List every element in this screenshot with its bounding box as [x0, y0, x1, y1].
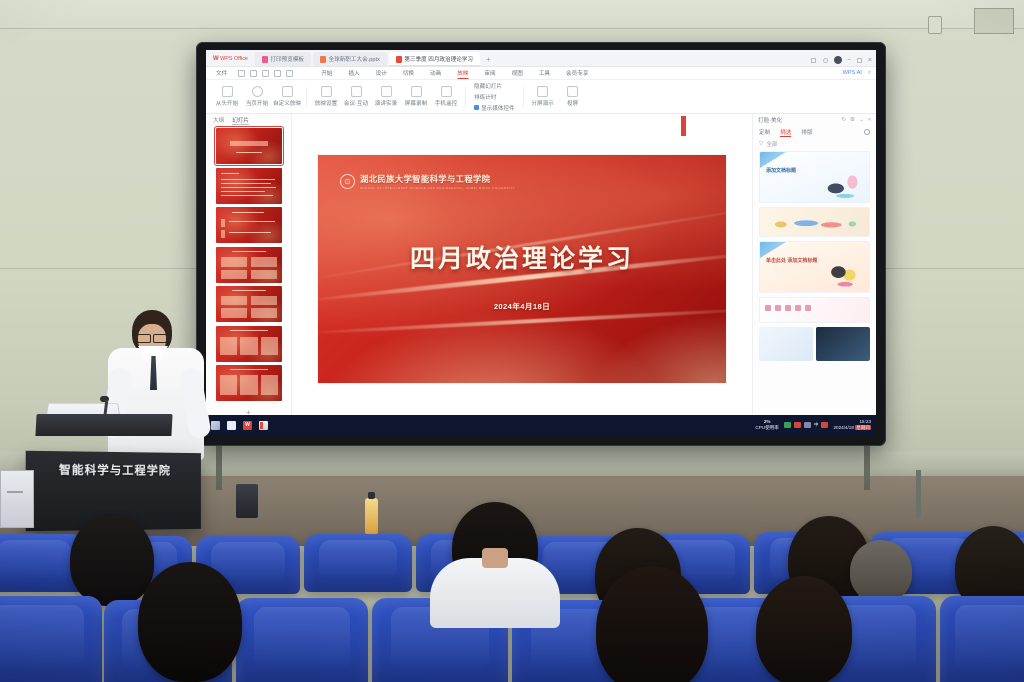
network-icon[interactable]	[784, 422, 791, 428]
template-illustration	[816, 327, 870, 361]
design-sidebar: 打脸·美化 ↻ ⚙ ⌄ × 定制 挑选 排版	[752, 114, 876, 424]
cloud-icon[interactable]	[822, 57, 829, 64]
tab-插入[interactable]: 插入	[340, 69, 367, 77]
taskbar-clock[interactable]: 15:23 2024/4/18 星期四	[833, 419, 871, 431]
start-icon[interactable]	[211, 421, 220, 430]
template-illustration	[815, 159, 867, 201]
audience-head	[138, 562, 242, 682]
doc-red-icon	[396, 56, 402, 63]
tab-视图[interactable]: 视图	[504, 69, 531, 77]
slide-thumbnail[interactable]	[216, 207, 282, 243]
document-icon[interactable]	[259, 421, 268, 430]
ribbon-label: 投屏	[567, 99, 578, 107]
slide-thumbnail[interactable]	[216, 128, 282, 164]
wps-brand: W WPS Office	[210, 51, 253, 66]
slide-title: 四月政治理论学习	[318, 239, 726, 275]
filter-label: 全部	[766, 140, 777, 148]
collapse-icon[interactable]: ⌄	[859, 117, 864, 123]
ribbon-record[interactable]: 演讲实录	[371, 86, 401, 107]
tab-会员专享[interactable]: 会员专享	[558, 69, 596, 77]
ribbon-label: 手机遥控	[435, 99, 457, 107]
share-icon[interactable]	[810, 57, 817, 64]
sidebar-tabs: 定制 挑选 排版	[753, 126, 876, 138]
template-icon-row	[765, 305, 811, 311]
slide-logo: ⊙ 湖北民族大学智能科学与工程学院 SCHOOL OF INTELLIGENT …	[340, 173, 515, 190]
volume-icon[interactable]	[794, 422, 801, 428]
audience-head	[70, 514, 154, 606]
seat	[236, 598, 368, 682]
wps-ribbon: 从头开始 当页开始 自定义放映 放映设置 会议·互动	[206, 80, 876, 114]
glasses-icon	[137, 334, 167, 341]
settings-icon[interactable]: ⚙	[850, 117, 855, 123]
document-tab-1[interactable]: 打印预览模板	[255, 52, 311, 66]
ribbon-cast[interactable]: 投屏	[558, 86, 588, 107]
sidebar-filter[interactable]: ▽ 全部	[753, 138, 876, 149]
slide-org-name: 湖北民族大学智能科学与工程学院	[360, 173, 515, 185]
document-tab-label: 全球新职工大会.pptx	[329, 55, 380, 63]
slide-thumbnail[interactable]	[216, 247, 282, 283]
show-settings-icon	[321, 86, 332, 97]
ribbon-hide-slide[interactable]: 隐藏幻灯片	[474, 82, 515, 90]
ribbon-label: 自定义放映	[273, 99, 301, 107]
template-card[interactable]: 单击此处 添加文档标题	[759, 241, 870, 293]
ribbon-label: 隐藏幻灯片	[474, 82, 502, 90]
tab-动画[interactable]: 动画	[422, 69, 449, 77]
slide-org-name-en: SCHOOL OF INTELLIGENT SCIENCE AND ENGINE…	[360, 186, 515, 190]
tripod-stand	[916, 470, 921, 518]
ribbon-split-present[interactable]: 分屏演示	[528, 86, 558, 107]
ime-icon[interactable]: 中	[814, 422, 819, 428]
template-card-caption: 单击此处 添加文档标题	[766, 258, 817, 266]
ribbon-play-current[interactable]: 当页开始	[242, 86, 272, 107]
thumbnail-panel-tabs: 大纲 幻灯片	[206, 114, 291, 126]
template-illustration	[762, 210, 867, 234]
ribbon-screen-record[interactable]: 屏幕录制	[401, 86, 431, 107]
ribbon-label: 放映设置	[315, 99, 337, 107]
tab-设计[interactable]: 设计	[368, 69, 395, 77]
document-tab-label: 第三季度 四月政治理论学习	[404, 55, 473, 63]
play-current-icon	[252, 86, 263, 97]
file-menu-button[interactable]: 文件	[211, 69, 232, 77]
minimize-icon[interactable]: −	[847, 57, 851, 64]
save-icon[interactable]	[238, 70, 245, 77]
quick-access-toolbar	[232, 70, 299, 77]
close-icon[interactable]: ×	[868, 117, 871, 123]
ribbon-rehearse[interactable]: 排练计时	[474, 93, 515, 101]
ribbon-media-checkbox[interactable]: 显示媒体控件	[474, 104, 515, 112]
wps-logo-icon: W	[213, 56, 218, 62]
template-card[interactable]	[759, 297, 870, 323]
phone-remote-icon	[441, 86, 452, 97]
university-logo-icon: ⊙	[340, 174, 355, 189]
audience-head	[596, 566, 708, 682]
ribbon-phone-remote[interactable]: 手机遥控	[431, 86, 461, 107]
seat	[304, 534, 412, 592]
current-slide[interactable]: ⊙ 湖北民族大学智能科学与工程学院 SCHOOL OF INTELLIGENT …	[318, 155, 726, 383]
clock-time: 15:23	[860, 419, 872, 424]
audience-head	[850, 540, 912, 602]
template-card-caption: 添加文档标题	[766, 168, 796, 176]
ceiling-vent	[974, 8, 1014, 34]
filter-icon: ▽	[759, 141, 763, 147]
screen-record-icon	[411, 86, 422, 97]
print-icon[interactable]	[250, 70, 257, 77]
slide-selection-marker	[681, 116, 686, 136]
speaker-box	[236, 484, 258, 518]
seat	[0, 596, 102, 682]
redo-icon[interactable]	[274, 70, 281, 77]
play-from-start-icon	[222, 86, 233, 97]
ribbon-label: 会议·互动	[344, 99, 368, 107]
undo-icon[interactable]	[262, 70, 269, 77]
ribbon-label: 从头开始	[216, 99, 238, 107]
template-card[interactable]: 添加文档标题	[759, 151, 870, 203]
sidebar-tab-定制[interactable]: 定制	[759, 128, 770, 136]
ribbon-meeting[interactable]: 会议·互动	[341, 86, 371, 107]
wall-socket	[928, 16, 942, 34]
tab-slides[interactable]: 幻灯片	[232, 116, 249, 125]
slide-thumbnail[interactable]	[216, 168, 282, 204]
wall-upper-band	[0, 0, 1024, 28]
tab-开始[interactable]: 开始	[313, 69, 340, 77]
display-screen: W WPS Office 打印预览模板 全球新职工大会.pptx 第三季度 四月…	[206, 50, 876, 435]
podium-top-surface	[35, 414, 172, 436]
wps-tab-bar: W WPS Office 打印预览模板 全球新职工大会.pptx 第三季度 四月…	[206, 50, 876, 67]
slide-thumbnail[interactable]	[216, 286, 282, 322]
sidebar-title: 打脸·美化	[758, 116, 782, 124]
template-card-list[interactable]: 添加文档标题 单击此处 添加文档标题	[753, 149, 876, 414]
document-tab-label: 打印预览模板	[270, 55, 304, 63]
slide-thumbnail[interactable]	[216, 365, 282, 401]
search-icon[interactable]: ⌕	[868, 70, 871, 77]
audience-neck	[482, 548, 508, 568]
system-tray: 中	[784, 422, 829, 428]
custom-show-icon	[282, 86, 293, 97]
template-illustration	[815, 249, 867, 291]
checkbox-icon[interactable]	[474, 105, 479, 110]
document-tab-3-active[interactable]: 第三季度 四月政治理论学习	[389, 52, 480, 66]
new-tab-button[interactable]: +	[482, 55, 495, 66]
sidebar-tab-挑选[interactable]: 挑选	[780, 128, 791, 137]
wps-office-window: W WPS Office 打印预览模板 全球新职工大会.pptx 第三季度 四月…	[206, 50, 876, 435]
meeting-icon	[351, 86, 362, 97]
wps-brand-label: WPS Office	[220, 56, 248, 62]
ribbon-label: 演讲实录	[375, 99, 397, 107]
ribbon-label: 排练计时	[474, 93, 496, 101]
ribbon-divider	[465, 87, 466, 107]
podium-sign: 智能科学与工程学院	[26, 461, 201, 478]
menu-right-area: WPS AI ⌕	[843, 70, 871, 77]
ribbon-custom-show[interactable]: 自定义放映	[272, 86, 302, 107]
wps-menu-bar: 文件 开始 插入 设计 切换 动画 放映 审阅 视图 工	[206, 67, 876, 80]
ribbon-divider	[523, 87, 524, 107]
search-icon[interactable]	[227, 421, 236, 430]
user-icon[interactable]	[864, 129, 870, 135]
ribbon-divider	[306, 87, 307, 107]
clock-weekday: 星期四	[855, 425, 871, 430]
slide-thumbnail[interactable]	[216, 326, 282, 362]
sidebar-header: 打脸·美化 ↻ ⚙ ⌄ ×	[753, 114, 876, 126]
battery-icon[interactable]	[804, 422, 811, 428]
ribbon-label: 当页开始	[246, 99, 268, 107]
split-screen-icon	[537, 86, 548, 97]
wps-body: 大纲 幻灯片	[206, 114, 876, 424]
template-card[interactable]	[759, 327, 870, 361]
sidebar-tab-排版[interactable]: 排版	[801, 128, 812, 136]
refresh-icon[interactable]: ↻	[841, 117, 846, 123]
display-stand-right	[864, 446, 870, 490]
slide-canvas[interactable]: ⊙ 湖北民族大学智能科学与工程学院 SCHOOL OF INTELLIGENT …	[292, 114, 752, 424]
ribbon-label: 显示媒体控件	[481, 104, 515, 112]
slide-thumbnail-panel: 大纲 幻灯片	[206, 114, 292, 424]
tab-工具[interactable]: 工具	[531, 69, 558, 77]
window-controls: − ×	[810, 56, 872, 66]
audience-shoulders	[430, 558, 560, 628]
ribbon-label: 分屏演示	[531, 99, 553, 107]
wall-seam-line	[0, 28, 1024, 29]
history-icon[interactable]	[286, 70, 293, 77]
slide-date: 2024年4月18日	[318, 301, 726, 312]
seat	[940, 596, 1024, 682]
cast-icon	[567, 86, 578, 97]
audience-seating	[0, 520, 1024, 682]
doc-orange-icon	[320, 56, 326, 63]
ribbon-label: 屏幕录制	[405, 99, 427, 107]
template-card[interactable]	[759, 207, 870, 237]
document-tab-2[interactable]: 全球新职工大会.pptx	[313, 52, 387, 66]
avatar[interactable]	[834, 56, 842, 64]
wps-ai-button[interactable]: WPS AI	[843, 70, 862, 76]
presenter	[108, 310, 204, 460]
ribbon-tab-list: 开始 插入 设计 切换 动画 放映 审阅 视图 工具 会员专享	[313, 69, 596, 77]
close-icon[interactable]: ×	[868, 57, 872, 64]
windows-taskbar: W 2% CPU使用率 中 15:23	[206, 415, 876, 435]
template-illustration	[759, 327, 813, 361]
maximize-icon[interactable]	[856, 57, 863, 64]
record-icon	[381, 86, 392, 97]
doc-pink-icon	[262, 56, 268, 63]
notification-icon[interactable]	[821, 422, 828, 428]
tab-切换[interactable]: 切换	[395, 69, 422, 77]
ribbon-options-column: 隐藏幻灯片 排练计时 显示媒体控件	[470, 82, 519, 112]
tab-放映[interactable]: 放映	[449, 69, 476, 77]
thumbnail-list[interactable]: +	[206, 126, 291, 424]
display-stand-left	[216, 446, 222, 490]
cpu-usage-indicator: 2% CPU使用率	[755, 419, 778, 430]
ribbon-play-from-start[interactable]: 从头开始	[212, 86, 242, 107]
taskbar-tray-area: 2% CPU使用率 中 15:23 2024/4/18 星期四	[755, 419, 871, 431]
audience-head	[756, 576, 852, 682]
clock-date: 2024/4/18	[833, 425, 853, 430]
tab-outline[interactable]: 大纲	[213, 116, 224, 124]
ribbon-show-settings[interactable]: 放映设置	[311, 86, 341, 107]
wps-icon[interactable]: W	[243, 421, 252, 430]
lecture-hall-scene: W WPS Office 打印预览模板 全球新职工大会.pptx 第三季度 四月…	[0, 0, 1024, 682]
tab-审阅[interactable]: 审阅	[476, 69, 503, 77]
cpu-label: CPU使用率	[755, 425, 778, 430]
